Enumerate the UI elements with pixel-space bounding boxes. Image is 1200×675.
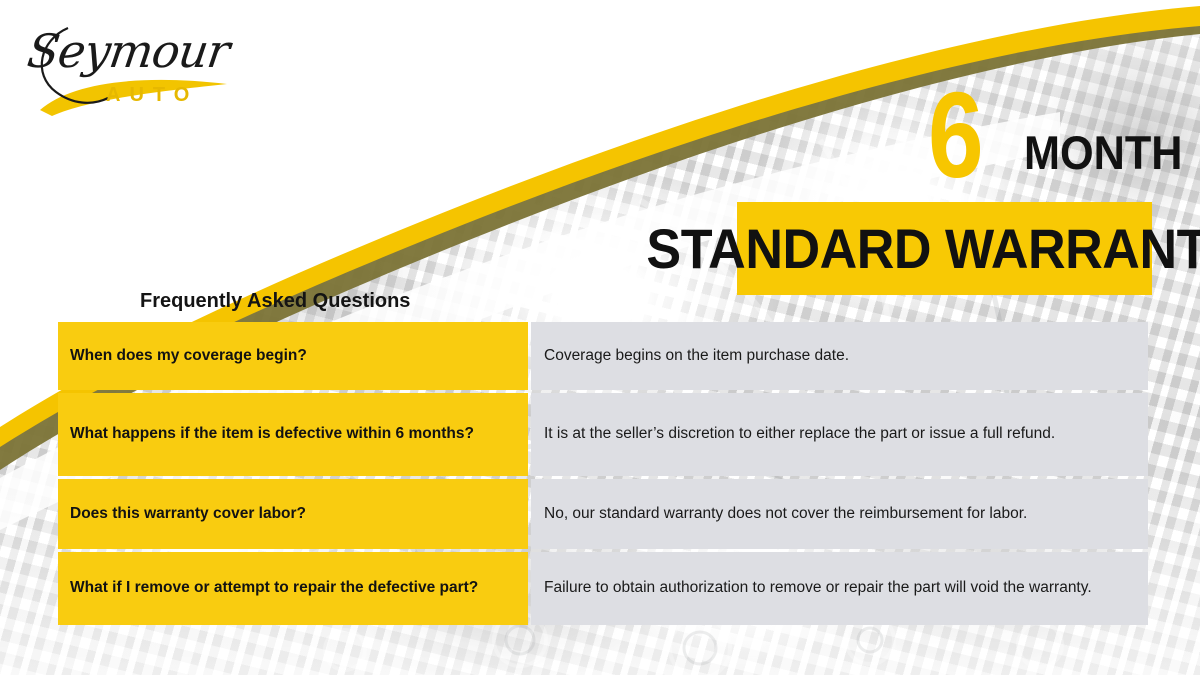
faq-answer-text: No, our standard warranty does not cover… (544, 504, 1134, 525)
faq-answer-text: Failure to obtain authorization to remov… (544, 578, 1134, 599)
table-row: What happens if the item is defective wi… (58, 393, 1148, 476)
logo-subtitle: AUTO (106, 84, 198, 107)
table-row: Does this warranty cover labor? No, our … (58, 479, 1148, 549)
faq-heading: Frequently Asked Questions (140, 290, 410, 313)
faq-question-cell: Does this warranty cover labor? (58, 479, 528, 549)
table-row: When does my coverage begin? Coverage be… (58, 322, 1148, 390)
standard-warranty-label: STANDARD WARRANTY (647, 221, 1200, 277)
duration-unit: MONTH (1024, 129, 1183, 176)
faq-answer-text: Coverage begins on the item purchase dat… (544, 346, 1134, 367)
faq-question-cell: When does my coverage begin? (58, 322, 528, 390)
table-row: What if I remove or attempt to repair th… (58, 552, 1148, 625)
faq-answer-cell: Failure to obtain authorization to remov… (531, 552, 1148, 625)
faq-answer-text: It is at the seller’s discretion to eith… (544, 424, 1134, 445)
faq-answer-cell: Coverage begins on the item purchase dat… (531, 322, 1148, 390)
faq-answer-cell: No, our standard warranty does not cover… (531, 479, 1148, 549)
faq-answer-cell: It is at the seller’s discretion to eith… (531, 393, 1148, 476)
warranty-slide: Seymour AUTO 6 MONTH STANDARD WARRANTY F… (0, 0, 1200, 675)
logo-wordmark: Seymour (24, 24, 232, 78)
faq-question-cell: What if I remove or attempt to repair th… (58, 552, 528, 625)
faq-question-cell: What happens if the item is defective wi… (58, 393, 528, 476)
duration-number: 6 (928, 74, 980, 196)
standard-warranty-banner: STANDARD WARRANTY (737, 202, 1152, 295)
faq-table: When does my coverage begin? Coverage be… (58, 322, 1148, 625)
seymour-auto-logo: Seymour AUTO (22, 18, 252, 118)
